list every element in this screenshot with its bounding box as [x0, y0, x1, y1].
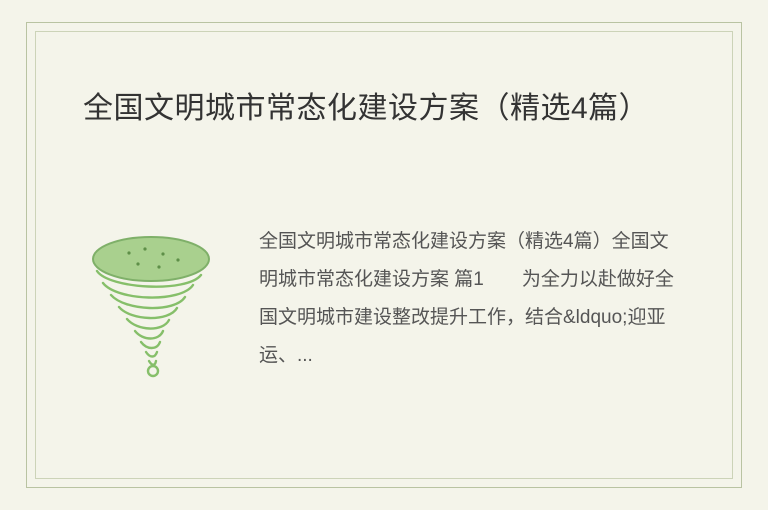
article-card: 全国文明城市常态化建设方案（精选4篇）	[26, 22, 742, 488]
page-title: 全国文明城市常态化建设方案（精选4篇）	[83, 85, 683, 132]
tornado-illustration-icon	[83, 223, 231, 383]
article-excerpt: 全国文明城市常态化建设方案（精选4篇）全国文明城市常态化建设方案 篇1 为全力以…	[259, 223, 681, 375]
article-summary-row: 全国文明城市常态化建设方案（精选4篇）全国文明城市常态化建设方案 篇1 为全力以…	[83, 223, 681, 383]
